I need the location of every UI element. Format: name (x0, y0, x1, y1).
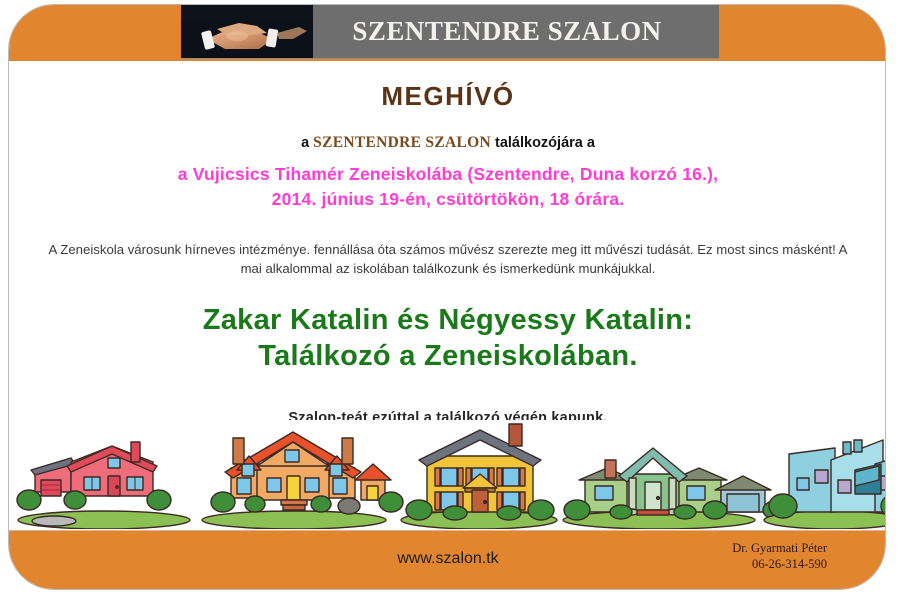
contact-name: Dr. Gyarmati Péter (732, 540, 827, 556)
header-plaque: SZENTENDRE SZALON (181, 5, 719, 59)
handshake-image (181, 5, 313, 58)
invite-line: a SZENTENDRE SZALON találkozójára a (9, 134, 886, 152)
program-line-2: Találkozó a Zeneiskolában. (9, 338, 886, 374)
header-title: SZENTENDRE SZALON (313, 16, 719, 47)
invite-brand: SZENTENDRE SZALON (313, 134, 491, 151)
invitation-page: SZENTENDRE SZALON MEGHÍVÓ a SZENTENDRE S… (0, 0, 902, 600)
invitation-frame: SZENTENDRE SZALON MEGHÍVÓ a SZENTENDRE S… (8, 4, 886, 590)
handshake-photo (181, 5, 313, 58)
program-line-1: Zakar Katalin és Négyessy Katalin: (9, 302, 886, 338)
row-of-houses-drawing (9, 420, 886, 531)
footer-band: www.szalon.tk Dr. Gyarmati Péter 06-26-3… (9, 531, 886, 589)
invite-suffix: találkozójára a (491, 135, 595, 151)
content-area: MEGHÍVÓ a SZENTENDRE SZALON találkozójár… (9, 61, 886, 429)
description-paragraph: A Zeneiskola városunk hírneves intézmény… (43, 240, 853, 278)
page-title: MEGHÍVÓ (9, 81, 886, 112)
venue-line: a Vujicsics Tihamér Zeneiskolába (Szente… (9, 162, 886, 187)
invite-prefix: a (301, 135, 313, 151)
date-line: 2014. június 19-én, csütörtökön, 18 órár… (9, 187, 886, 212)
header-band: SZENTENDRE SZALON (9, 5, 886, 61)
contact-block: Dr. Gyarmati Péter 06-26-314-590 (732, 540, 827, 572)
houses-illustration (9, 420, 886, 529)
contact-phone: 06-26-314-590 (732, 556, 827, 572)
program-heading: Zakar Katalin és Négyessy Katalin: Talál… (9, 302, 886, 374)
